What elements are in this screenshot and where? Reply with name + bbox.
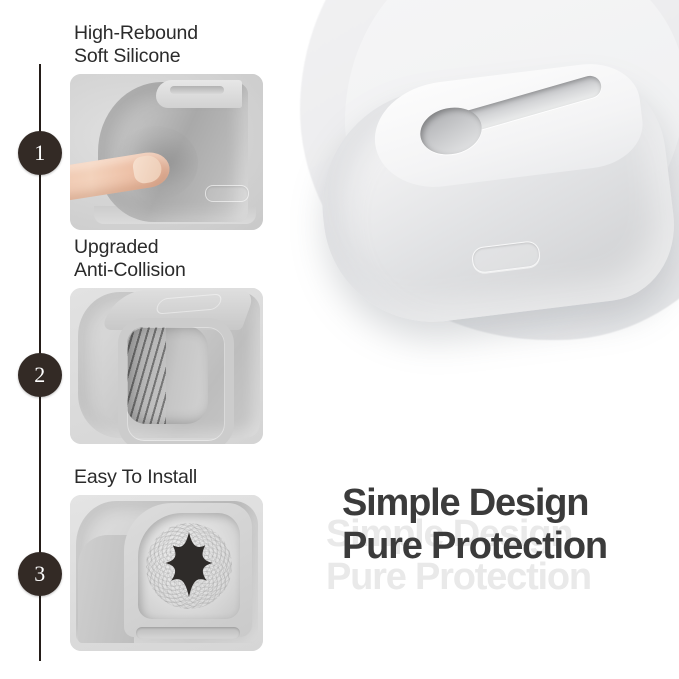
thumb3-bottom-groove — [136, 627, 240, 639]
thumb1-fingernail — [131, 154, 163, 185]
feature-title-2: Upgraded Anti-Collision — [74, 236, 263, 282]
step-bullet-1: 1 — [18, 131, 62, 175]
star-aperture-icon — [152, 529, 226, 603]
star-aperture-photo — [70, 495, 263, 651]
infographic-page: 1 2 3 High-Rebound Soft Silicone Upgrade… — [0, 0, 679, 679]
thumb1-slot-opening — [170, 86, 224, 94]
feature-title-1: High-Rebound Soft Silicone — [74, 22, 263, 68]
headline-group: Simple Design Pure Protection Simple Des… — [342, 482, 672, 612]
feature-title-3: Easy To Install — [74, 466, 263, 489]
finger-pressing-silicone-photo — [70, 74, 263, 230]
step-number-1: 1 — [34, 142, 46, 164]
ribbed-interior-photo — [70, 288, 263, 444]
step-bullet-2: 2 — [18, 353, 62, 397]
feature-block-1: High-Rebound Soft Silicone — [70, 22, 263, 230]
step-number-2: 2 — [34, 364, 46, 386]
thumb1-cover-top-face — [156, 80, 242, 108]
thumb3-recess — [138, 513, 240, 619]
headline-main: Simple Design Pure Protection — [342, 482, 607, 568]
step-bullet-3: 3 — [18, 552, 62, 596]
thumb2-opening-rim — [118, 318, 234, 444]
step-number-3: 3 — [34, 563, 46, 585]
feature-block-2: Upgraded Anti-Collision — [70, 236, 263, 444]
thumb1-logo-badge — [205, 185, 249, 202]
silicone-spout-cover — [322, 48, 672, 348]
feature-block-3: Easy To Install — [70, 466, 263, 651]
